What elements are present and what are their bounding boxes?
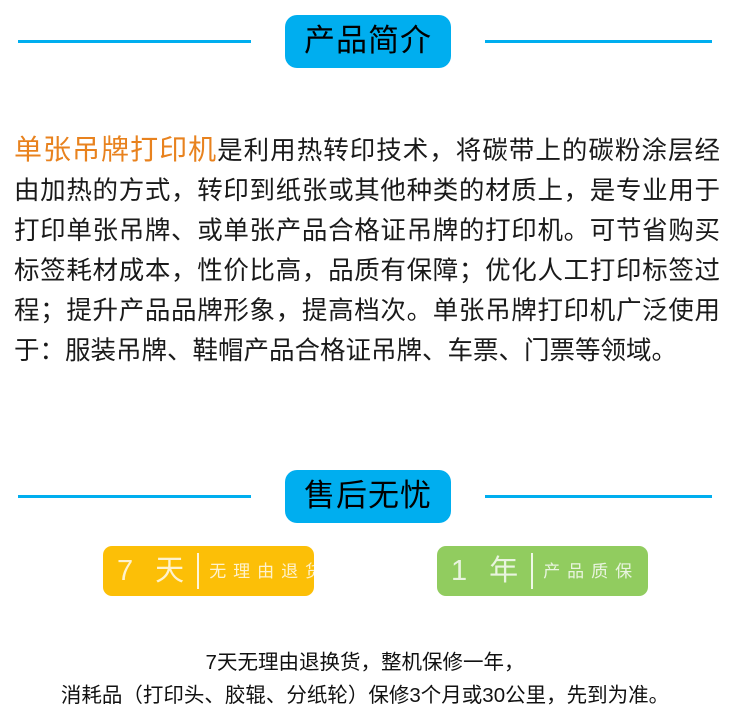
- header-rule-right: [485, 40, 712, 43]
- intro-keyword: 单张吊牌打印机: [14, 134, 217, 165]
- intro-body-text: 是利用热转印技术，将碳带上的碳粉涂层经由加热的方式，转印到纸张或其他种类的材质上…: [14, 137, 720, 365]
- warranty-footnote-line-2: 消耗品（打印头、胶辊、分纸轮）保修3个月或30公里，先到为准。: [0, 679, 730, 712]
- service-header-rule-right: [485, 495, 712, 498]
- return-policy-duration: 7 天: [103, 557, 191, 586]
- intro-section-header: 产品简介: [0, 13, 730, 69]
- intro-paragraph: 单张吊牌打印机是利用热转印技术，将碳带上的碳粉涂层经由加热的方式，转印到纸张或其…: [14, 130, 720, 371]
- quality-guarantee-duration: 1 年: [437, 557, 525, 586]
- service-section-header: 售后无忧: [0, 468, 730, 524]
- warranty-footnote-line-1: 7天无理由退换货，整机保修一年，: [0, 646, 730, 679]
- header-rule-left: [18, 40, 251, 43]
- intro-header-badge: 产品简介: [285, 15, 451, 68]
- return-policy-label: 无理由退货: [209, 563, 329, 580]
- quality-guarantee-label: 产品质保: [543, 563, 639, 580]
- pill-divider-icon: [197, 553, 199, 589]
- service-header-rule-left: [18, 495, 251, 498]
- warranty-pill-return-policy: 7 天 无理由退货: [103, 546, 314, 596]
- warranty-footnote: 7天无理由退换货，整机保修一年， 消耗品（打印头、胶辊、分纸轮）保修3个月或30…: [0, 646, 730, 712]
- warranty-pill-row: 7 天 无理由退货 1 年 产品质保: [0, 546, 730, 598]
- pill-divider-icon: [531, 553, 533, 589]
- service-header-badge: 售后无忧: [285, 470, 451, 523]
- warranty-pill-quality-guarantee: 1 年 产品质保: [437, 546, 648, 596]
